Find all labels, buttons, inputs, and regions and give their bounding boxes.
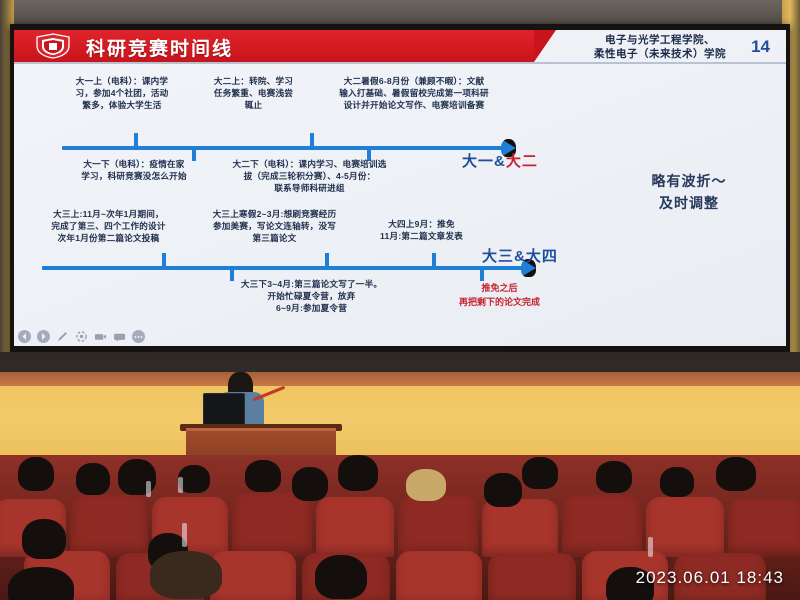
seat (210, 551, 296, 600)
text-line: 参加美赛，写论文连轴转，没写 (192, 220, 357, 232)
text-line: 繁多，体验大学生活 (52, 99, 192, 111)
text-line: 大二下（电科）：课内学习、电赛培训选 (212, 158, 407, 170)
text-line: 拔（完成三轮积分赛）、4-5月份： (212, 170, 407, 182)
audience-head (660, 467, 694, 497)
text-line: 学习，科研竞赛没怎么开始 (59, 170, 209, 182)
block-sophomore-summer: 大二暑假6-8月份（兼顾不暇）：文献 输入打基础、暑假留校完成第一项科研 设计并… (309, 75, 519, 112)
block-senior-fall: 大四上9月：推免 11月:第二篇文章发表 (359, 218, 484, 242)
audience-head (8, 567, 74, 600)
slide-page-number: 14 (751, 37, 770, 57)
presentation-slide: 科研竞赛时间线 电子与光学工程学院、 柔性电子（未来技术）学院 14 大一上（电… (14, 30, 786, 346)
text-line: 联系导师科研进组 (212, 182, 407, 194)
seat (316, 497, 394, 557)
phase-label-freshman-sophomore: 大一&大二 (462, 150, 538, 171)
text-line: 大二上：转院、学习 (196, 75, 311, 87)
text-line: 开始忙碌夏令营，放弃 (219, 290, 404, 302)
timeline-tick (325, 253, 329, 266)
audience-head (522, 457, 558, 489)
text-line: 大三上寒假2~3月:想刷竞赛经历 (192, 208, 357, 220)
audience-head (338, 455, 378, 491)
camera-timestamp: 2023.06.01 18:43 (636, 568, 784, 588)
water-bottle (182, 523, 187, 547)
audience-head (18, 457, 54, 491)
audience-head (315, 555, 367, 599)
text-line: 6~9月:参加夏令营 (219, 302, 404, 314)
timeline-tick (480, 270, 484, 281)
block-freshman-fall: 大一上（电科）：课内学 习，参加4个社团，活动 繁多，体验大学生活 (52, 75, 192, 112)
timeline-tick (310, 133, 314, 146)
presentation-toolbar[interactable] (18, 330, 145, 343)
water-bottle (178, 477, 183, 493)
text-line: 大一上（电科）：课内学 (52, 75, 192, 87)
seat (482, 499, 558, 557)
block-sophomore-spring: 大二下（电科）：课内学习、电赛培训选 拔（完成三轮积分赛）、4-5月份： 联系导… (212, 158, 407, 195)
phase-label-junior-senior: 大三&大四 (482, 245, 558, 266)
phase-label-part: 大三&大四 (482, 248, 558, 265)
seat (488, 553, 576, 600)
block-junior-fall: 大三上:11月~次年1月期间， 完成了第三、四个工作的设计 次年1月份第二篇论文… (26, 208, 191, 245)
audience-head (292, 467, 328, 501)
block-junior-winter: 大三上寒假2~3月:想刷竞赛经历 参加美赛，写论文连轴转，没写 第三篇论文 (192, 208, 357, 245)
timeline-axis-lower (42, 266, 522, 270)
timeline-tick (432, 253, 436, 266)
phase-label-part: 大二 (506, 153, 538, 170)
audience-head (22, 519, 66, 559)
audience-head-blonde (406, 469, 446, 501)
text-line: 习，参加4个社团，活动 (52, 87, 192, 99)
title-divider (14, 62, 786, 64)
text-line: 大三下3~4月:第三篇论文写了一半。 (219, 278, 404, 290)
audience-head (76, 463, 110, 495)
audience-head (716, 457, 756, 491)
slide-title: 科研竞赛时间线 (86, 34, 233, 61)
side-note-annotation: 略有波折～ 及时调整 (614, 170, 764, 215)
department-label: 电子与光学工程学院、 柔性电子（未来技术）学院 (594, 33, 726, 61)
seat (728, 499, 800, 557)
text-line: 大三上:11月~次年1月期间， (26, 208, 191, 220)
department-line-2: 柔性电子（未来技术）学院 (594, 47, 726, 61)
water-bottle (146, 481, 151, 497)
text-line: 输入打基础、暑假留校完成第一项科研 (309, 87, 519, 99)
previous-slide-button[interactable] (18, 330, 31, 343)
text-line: 辄止 (196, 99, 311, 111)
text-line: 大四上9月：推免 (359, 218, 484, 230)
more-options-button[interactable] (132, 330, 145, 343)
text-line: 次年1月份第二篇论文投稿 (26, 232, 191, 244)
text-line: 设计并开始论文写作、电赛培训备赛 (309, 99, 519, 111)
seat (396, 551, 482, 600)
text-line: 大二暑假6-8月份（兼顾不暇）：文献 (309, 75, 519, 87)
lecture-hall-photo: 科研竞赛时间线 电子与光学工程学院、 柔性电子（未来技术）学院 14 大一上（电… (0, 0, 800, 600)
presenter-laptop (203, 393, 245, 427)
stage-upper-band (0, 372, 800, 386)
seat (232, 493, 312, 557)
seat (646, 497, 724, 557)
text-line: 11月:第二篇文章发表 (359, 230, 484, 242)
block-junior-spring: 大三下3~4月:第三篇论文写了一半。 开始忙碌夏令营，放弃 6~9月:参加夏令营 (219, 278, 404, 315)
seat (398, 495, 478, 557)
phase-label-part: 大一 (462, 153, 494, 170)
phase-label-amp: & (494, 153, 506, 170)
block-sophomore-fall: 大二上：转院、学习 任务繁重、电赛浅尝 辄止 (196, 75, 311, 112)
text-line: 再把剩下的论文完成 (432, 296, 567, 310)
text-line: 任务繁重、电赛浅尝 (196, 87, 311, 99)
text-line: 及时调整 (614, 192, 764, 214)
text-line: 大一下（电科）：疫情在家 (59, 158, 209, 170)
text-line: 第三篇论文 (192, 232, 357, 244)
text-line: 略有波折～ (614, 170, 764, 192)
text-line: 推免之后 (432, 282, 567, 296)
end-note-annotation: 推免之后 再把剩下的论文完成 (432, 282, 567, 309)
audience-head (484, 473, 522, 507)
pen-annotation-button[interactable] (56, 330, 69, 343)
presenter-notes-button[interactable] (113, 330, 126, 343)
laser-pointer-button[interactable] (75, 330, 88, 343)
water-bottle (648, 537, 653, 557)
audience-head (596, 461, 632, 493)
slide-title-bar: 科研竞赛时间线 电子与光学工程学院、 柔性电子（未来技术）学院 14 (14, 30, 786, 62)
audience-head (150, 551, 222, 599)
university-shield-icon (32, 33, 74, 59)
department-line-1: 电子与光学工程学院、 (594, 33, 726, 47)
timeline-tick (162, 253, 166, 266)
block-freshman-spring: 大一下（电科）：疫情在家 学习，科研竞赛没怎么开始 (59, 158, 209, 182)
seat (562, 495, 642, 557)
audience-head (245, 460, 281, 492)
text-line: 完成了第三、四个工作的设计 (26, 220, 191, 232)
next-slide-button[interactable] (37, 330, 50, 343)
seat (70, 495, 148, 557)
screen-options-button[interactable] (94, 330, 107, 343)
timeline-axis-upper (62, 146, 502, 150)
timeline-tick (134, 133, 138, 146)
